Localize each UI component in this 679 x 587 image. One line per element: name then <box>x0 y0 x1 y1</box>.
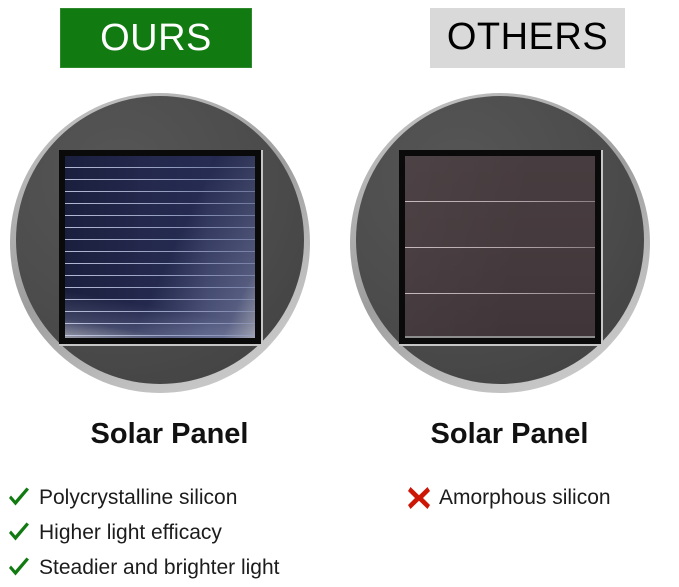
feature-label: Amorphous silicon <box>439 486 611 510</box>
badge-ours: OURS <box>60 8 252 68</box>
feature-item: Polycrystalline silicon <box>0 480 339 515</box>
polycrystalline-cell <box>65 156 255 338</box>
amorphous-cell <box>405 156 595 338</box>
feature-list-ours: Polycrystalline silicon Higher light eff… <box>0 480 339 585</box>
comparison-column-others: OTHERS Solar Panel Amorphous si <box>340 0 679 587</box>
caption-others: Solar Panel <box>340 418 679 451</box>
feature-label: Higher light efficacy <box>39 521 222 545</box>
comparison-column-ours: OURS <box>0 0 339 587</box>
feature-label: Polycrystalline silicon <box>39 486 237 510</box>
check-icon <box>6 520 32 546</box>
check-icon <box>6 555 32 581</box>
solar-module-ours <box>10 93 310 393</box>
panel-frame-others <box>399 150 603 346</box>
cross-icon <box>406 485 432 511</box>
feature-label: Steadier and brighter light <box>39 556 280 580</box>
panel-frame-ours <box>59 150 263 346</box>
caption-ours: Solar Panel <box>0 418 339 451</box>
badge-others: OTHERS <box>430 8 625 68</box>
feature-item: Higher light efficacy <box>0 515 339 550</box>
feature-list-others: Amorphous silicon <box>340 480 679 515</box>
check-icon <box>6 485 32 511</box>
solar-module-others <box>350 93 650 393</box>
feature-item: Steadier and brighter light <box>0 550 339 585</box>
solar-panel-comparison: OURS <box>0 0 679 587</box>
feature-item: Amorphous silicon <box>340 480 679 515</box>
